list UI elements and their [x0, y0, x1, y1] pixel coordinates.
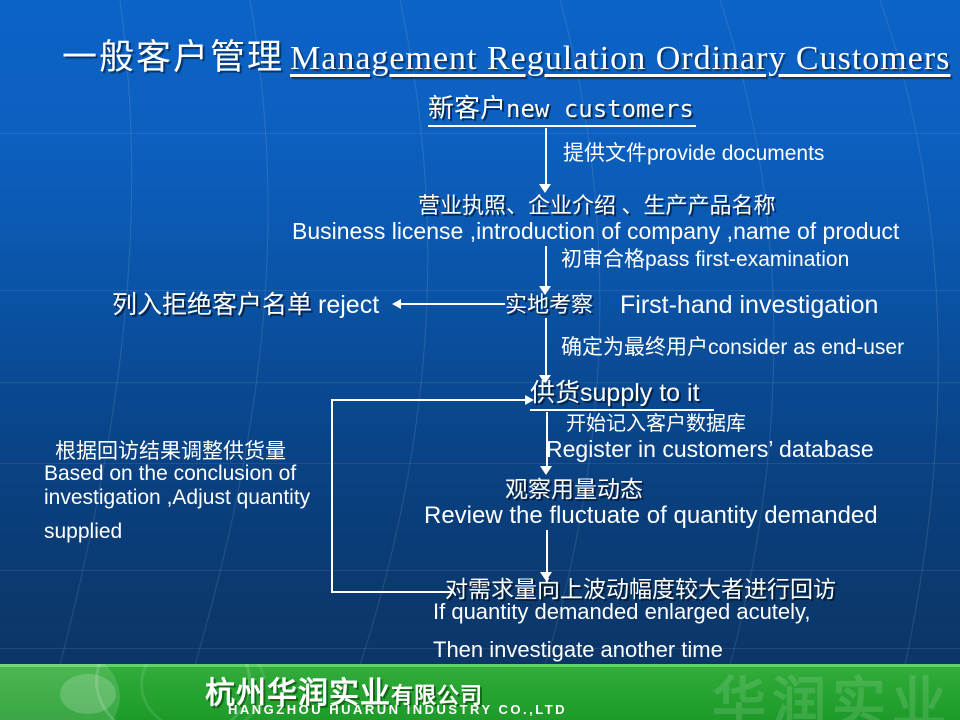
node-documents-cn-text: 营业执照、企业介绍 、生产产品名称: [418, 193, 776, 218]
node-investigation-cn-text: 实地考察: [505, 292, 593, 317]
edge-label-register-database-en: Register in customers’ database: [546, 437, 874, 462]
note-feedback-en-line2-text: investigation ,Adjust quantity: [44, 486, 310, 509]
node-investigation-cn: 实地考察: [505, 293, 593, 317]
note-feedback-en-line1: Based on the conclusion of: [44, 463, 296, 485]
node-revisit-en-line1-text: If quantity demanded enlarged acutely,: [433, 599, 811, 624]
edge-label-register-database-en-text: Register in customers’ database: [546, 436, 874, 462]
note-feedback-en-line3: supplied: [44, 521, 122, 543]
edge-label-consider-end-user: 确定为最终用户consider as end-user: [561, 336, 904, 359]
node-review-en: Review the fluctuate of quantity demande…: [424, 503, 878, 528]
background-band: [0, 382, 960, 383]
edge-label-provide-documents: 提供文件provide documents: [563, 142, 824, 165]
node-supply-en: supply to it: [580, 379, 700, 407]
edge-label-consider-end-user-en: consider as end-user: [708, 336, 904, 359]
edge-label-register-database-cn-text: 开始记入客户数据库: [566, 413, 746, 435]
node-reject-cn: 列入拒绝客户名单: [112, 292, 312, 319]
arrowhead-right-supply: [525, 395, 534, 405]
node-documents-en-text: Business license ,introduction of compan…: [292, 218, 899, 244]
edge-label-register-database-cn: 开始记入客户数据库: [566, 414, 746, 435]
node-new-customers-underline: [428, 125, 696, 127]
edge-label-provide-documents-cn: 提供文件: [563, 141, 647, 165]
connector-investigation-to-reject: [400, 303, 505, 305]
node-review-cn: 观察用量动态: [505, 478, 643, 502]
page-title-en: Management Regulation Ordinary Customers: [290, 40, 950, 77]
feedback-loop-bottom: [331, 591, 451, 593]
edge-label-pass-first-examination-en: pass first-examination: [645, 248, 849, 271]
node-reject: 列入拒绝客户名单reject: [112, 292, 379, 319]
footer-banner: 华润实业 杭州华润实业有限公司 HANGZHOU HUARUN INDUSTRY…: [0, 664, 960, 720]
arrowhead-down-docs: [539, 184, 551, 193]
node-new-customers-en: new customers: [506, 95, 694, 123]
node-investigation-en: First-hand investigation: [620, 292, 878, 318]
edge-label-pass-first-examination-cn: 初审合格: [561, 247, 645, 271]
node-supply-underline: [530, 409, 714, 411]
feedback-loop-left: [331, 399, 333, 592]
footer-logo-en: HANGZHOU HUARUN INDUSTRY CO.,LTD: [228, 702, 567, 717]
node-revisit-en-line2-text: Then investigate another time: [433, 637, 723, 662]
edge-label-provide-documents-en: provide documents: [647, 142, 824, 165]
node-new-customers-cn: 新客户: [428, 94, 506, 123]
node-supply: 供货supply to it: [530, 380, 700, 407]
note-feedback-cn-text: 根据回访结果调整供货量: [55, 439, 286, 463]
connector-start-to-docs: [545, 128, 547, 186]
node-reject-en: reject: [318, 291, 379, 319]
edge-label-pass-first-examination: 初审合格pass first-examination: [561, 248, 849, 271]
arrowhead-left-reject: [392, 299, 401, 309]
note-feedback-en-line1-text: Based on the conclusion of: [44, 462, 296, 485]
node-review-cn-text: 观察用量动态: [505, 477, 643, 502]
page-title-cn: 一般客户管理: [62, 38, 284, 77]
background-band: [0, 133, 960, 134]
background-band: [0, 570, 960, 571]
node-documents-en: Business license ,introduction of compan…: [292, 219, 899, 244]
node-supply-cn: 供货: [530, 380, 580, 407]
note-feedback-cn: 根据回访结果调整供货量: [55, 440, 286, 463]
connector-investigation-to-supply: [545, 318, 547, 380]
edge-label-consider-end-user-cn: 确定为最终用户: [561, 335, 708, 359]
note-feedback-en-line3-text: supplied: [44, 520, 122, 543]
page-title: 一般客户管理Management Regulation Ordinary Cus…: [62, 29, 950, 80]
node-review-en-text: Review the fluctuate of quantity demande…: [424, 502, 878, 529]
node-revisit-en-line2: Then investigate another time: [433, 638, 723, 662]
connector-docs-to-investigation: [545, 246, 547, 291]
node-revisit-en-line1: If quantity demanded enlarged acutely,: [433, 600, 811, 624]
slide-canvas: 一般客户管理Management Regulation Ordinary Cus…: [0, 0, 960, 720]
connector-review-to-revisit: [546, 530, 548, 578]
node-documents-cn: 营业执照、企业介绍 、生产产品名称: [418, 194, 776, 218]
node-new-customers: 新客户new customers: [428, 95, 694, 122]
feedback-loop-top: [332, 399, 528, 401]
note-feedback-en-line2: investigation ,Adjust quantity: [44, 487, 310, 509]
footer-watermark: 华润实业: [712, 664, 952, 720]
arrowhead-down-review: [540, 466, 552, 475]
node-investigation-en-text: First-hand investigation: [620, 291, 878, 319]
